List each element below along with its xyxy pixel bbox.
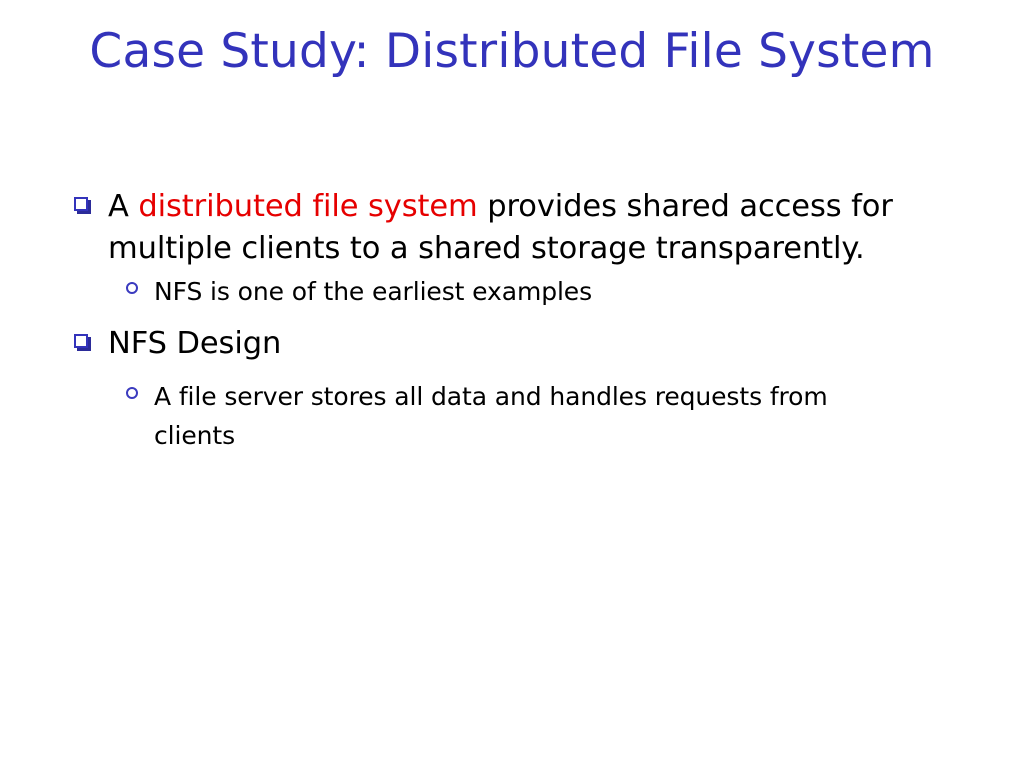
bullet-group-spacer [0,367,1024,377]
bullet-text-segment-emphasis: distributed file system [138,189,477,224]
bullet-text-segment-plain: A [108,189,138,224]
square-bullet-icon [74,323,108,348]
bullet-text: NFS Design [108,323,898,365]
ring-bullet-icon [126,272,154,294]
bullet-item-level2: NFS is one of the earliest examples [0,272,1024,311]
slide-title: Case Study: Distributed File System [62,22,962,82]
bullet-item-level2: A file server stores all data and handle… [0,377,1024,455]
bullet-item-level1: A distributed file system provides share… [0,186,1024,270]
slide-body: A distributed file system provides share… [0,186,1024,457]
bullet-text: A file server stores all data and handle… [154,377,854,455]
bullet-text: A distributed file system provides share… [108,186,898,270]
bullet-text: NFS is one of the earliest examples [154,272,854,311]
bullet-group-spacer [0,313,1024,323]
ring-bullet-icon [126,377,154,399]
slide-canvas: Case Study: Distributed File System A di… [0,0,1024,768]
bullet-item-level1: NFS Design [0,323,1024,365]
square-bullet-icon [74,186,108,211]
